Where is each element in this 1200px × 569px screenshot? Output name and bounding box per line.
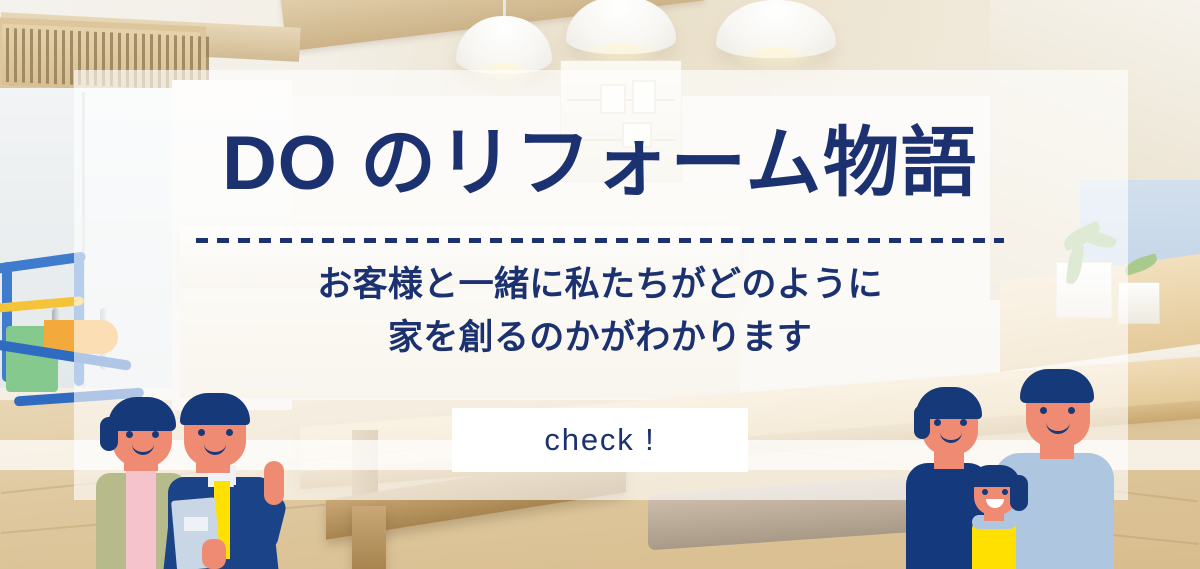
banner-content: DO のリフォーム物語 お客様と一緒に私たちがどのように 家を創るのかがわかりま…	[0, 0, 1200, 569]
brand-name: DO	[222, 121, 338, 206]
banner-title: DO のリフォーム物語	[0, 126, 1200, 202]
reform-story-banner: DO のリフォーム物語 お客様と一緒に私たちがどのように 家を創るのかがわかりま…	[0, 0, 1200, 569]
subtitle-line-2: 家を創るのかがわかります	[0, 311, 1200, 364]
title-rest: のリフォーム物語	[360, 121, 978, 206]
subtitle-line-1: お客様と一緒に私たちがどのように	[0, 258, 1200, 311]
dotted-divider	[196, 238, 1004, 243]
check-button[interactable]: check !	[452, 408, 748, 472]
banner-subtitle: お客様と一緒に私たちがどのように 家を創るのかがわかります	[0, 258, 1200, 364]
